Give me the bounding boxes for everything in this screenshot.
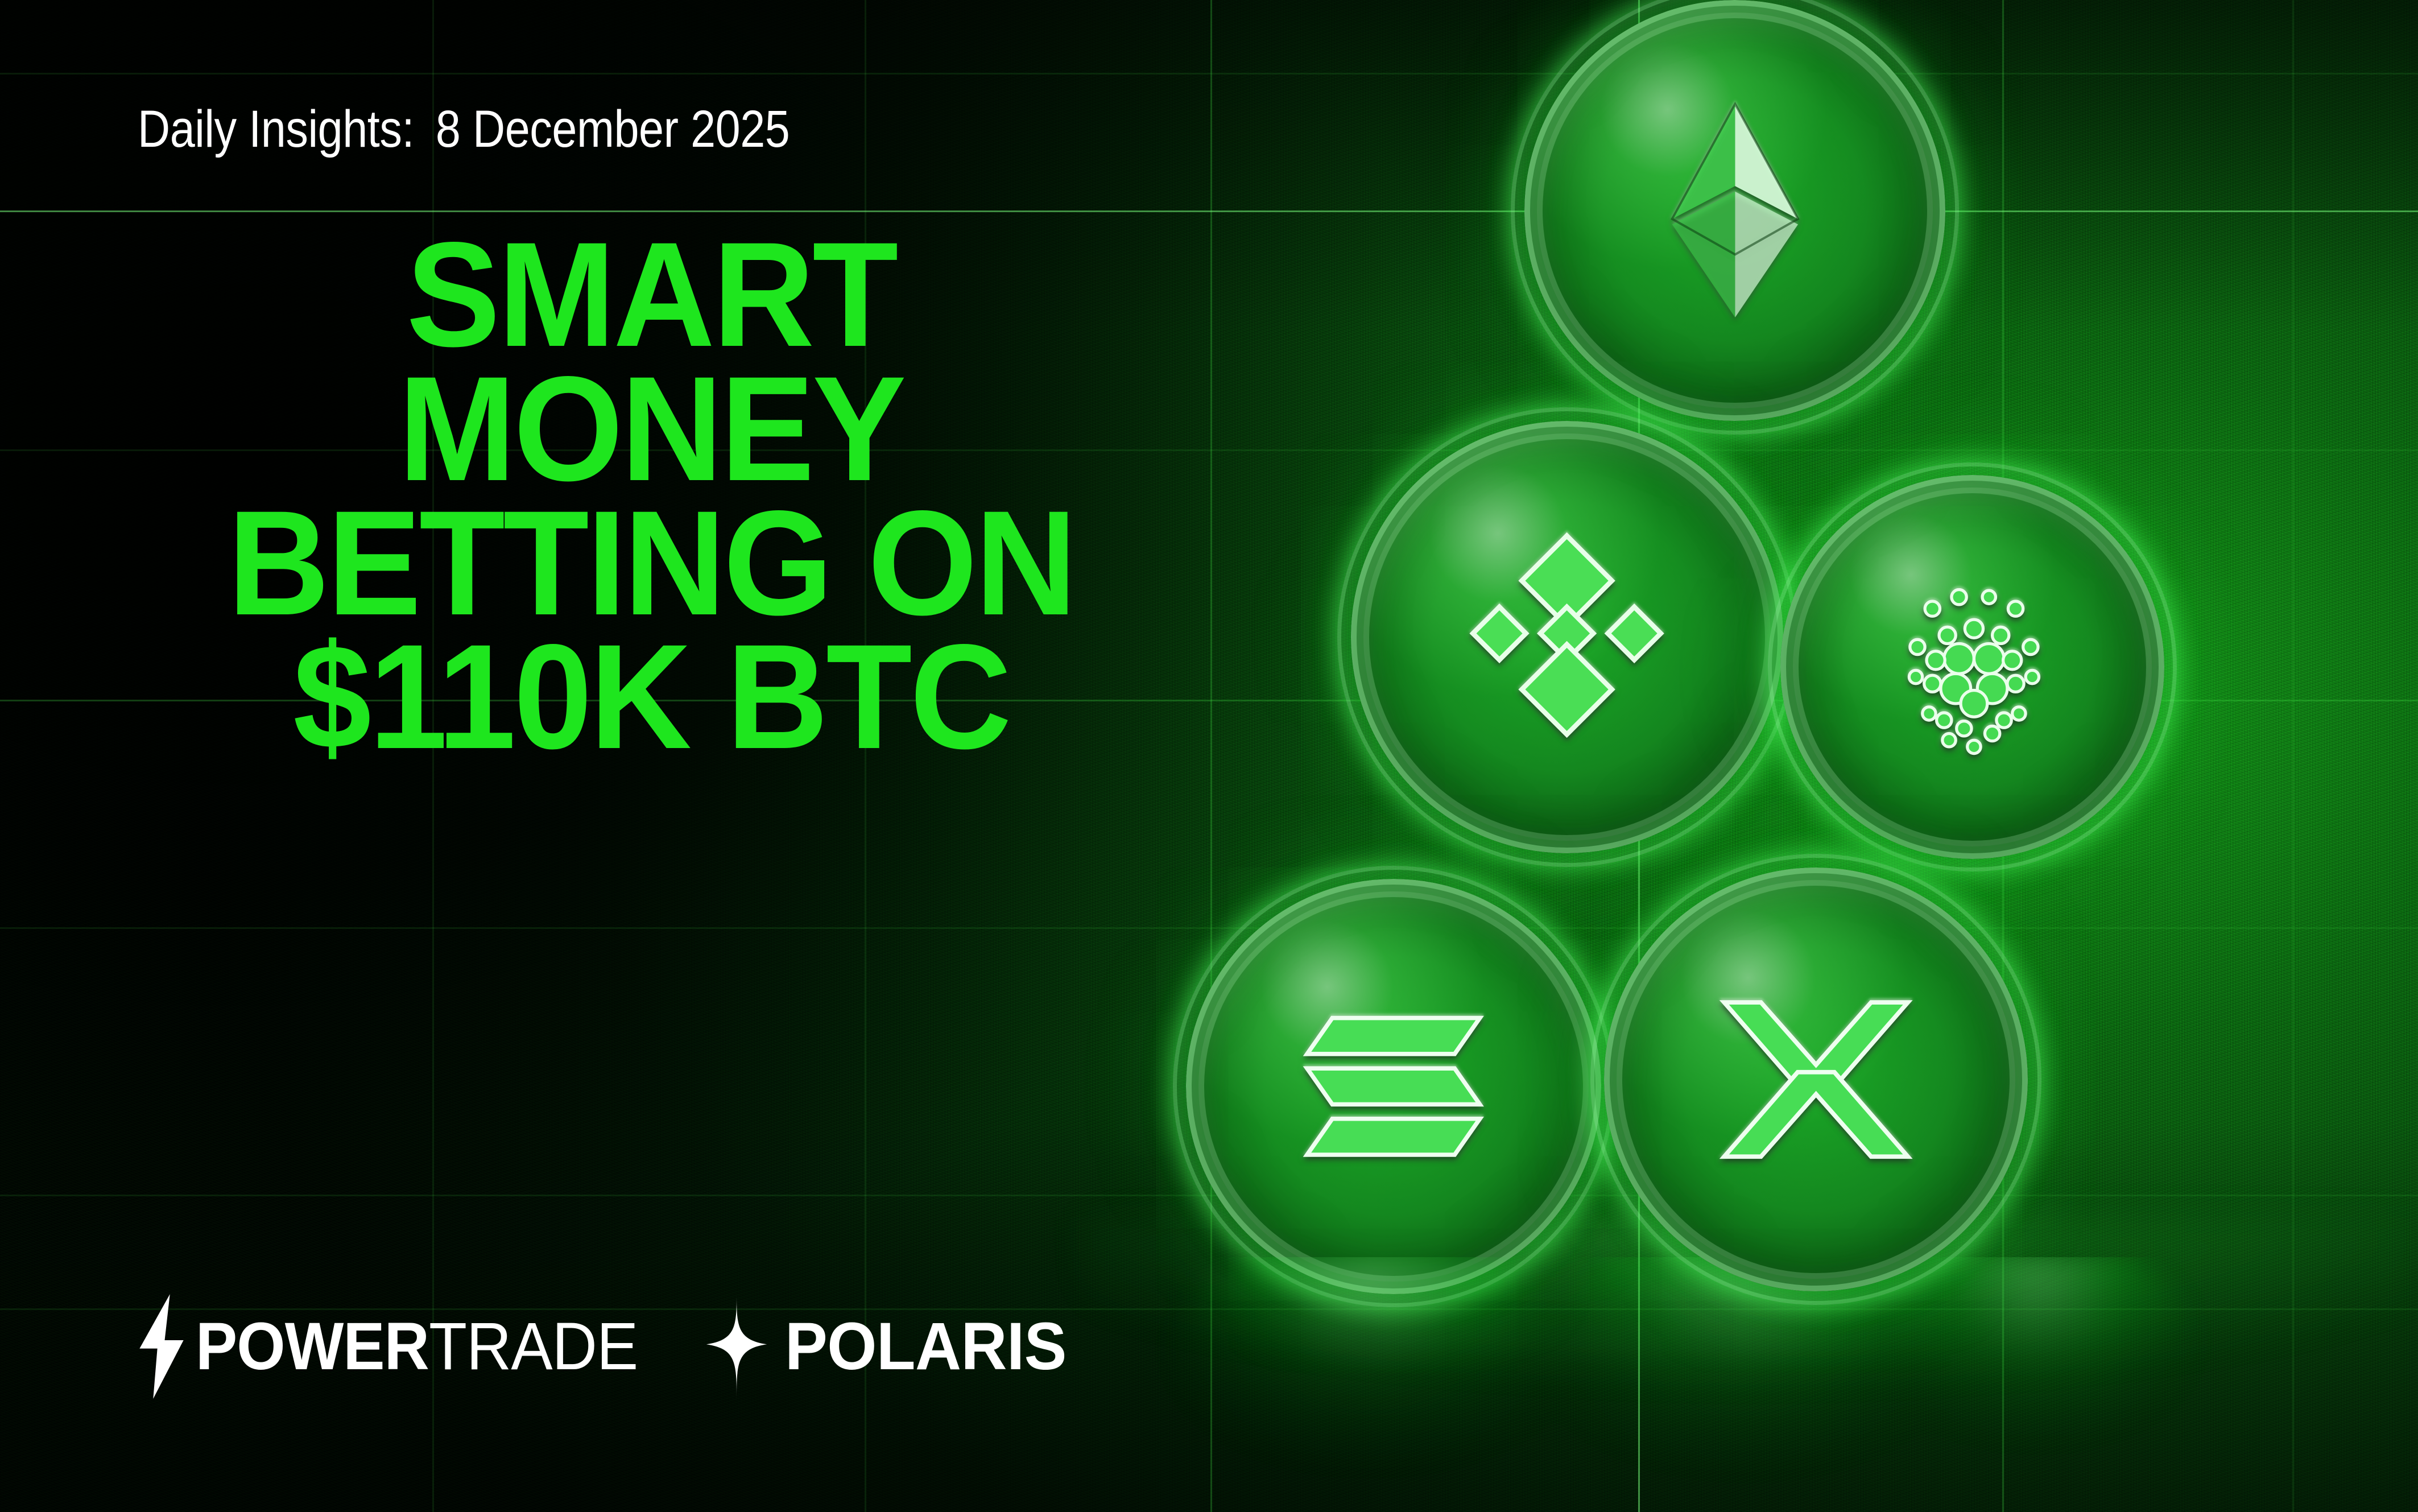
coin-ethereum [1524,0,1945,421]
coin-binance [1351,421,1783,853]
headline-line-4: $110K BTC [36,630,1267,764]
headline-line-3: BETTING ON [36,496,1267,630]
coin-cardano [1780,475,2164,859]
product-name: POLARIS [785,1313,1067,1380]
brand-name-light: TRADE [429,1309,638,1384]
cardano-icon [1780,475,2164,859]
ethereum-icon [1524,0,1945,421]
lightning-bolt-icon [135,1294,188,1399]
crypto-coin-cluster [1126,0,2418,1371]
brand-logo-lockup[interactable]: POWERTRADE POLARIS [135,1292,1081,1401]
xrp-icon [1604,867,2028,1291]
binance-icon [1351,421,1783,853]
headline-line-1: SMART [36,228,1267,362]
brand-name: POWERTRADE [196,1313,638,1380]
page-title: SMART MONEY BETTING ON $110K BTC [0,228,1303,764]
coin-solana [1186,879,1601,1294]
solana-icon [1186,879,1601,1294]
headline-line-2: MONEY [36,362,1267,496]
promo-banner: Daily Insights: 8 December 2025 SMART MO… [0,0,2418,1512]
kicker-line: Daily Insights: 8 December 2025 [138,100,790,159]
kicker-label: Daily Insights: [138,100,414,159]
coin-xrp [1604,867,2028,1291]
four-point-star-icon [703,1292,770,1401]
brand-name-bold: POWER [196,1309,429,1384]
kicker-date: 8 December 2025 [436,100,790,159]
